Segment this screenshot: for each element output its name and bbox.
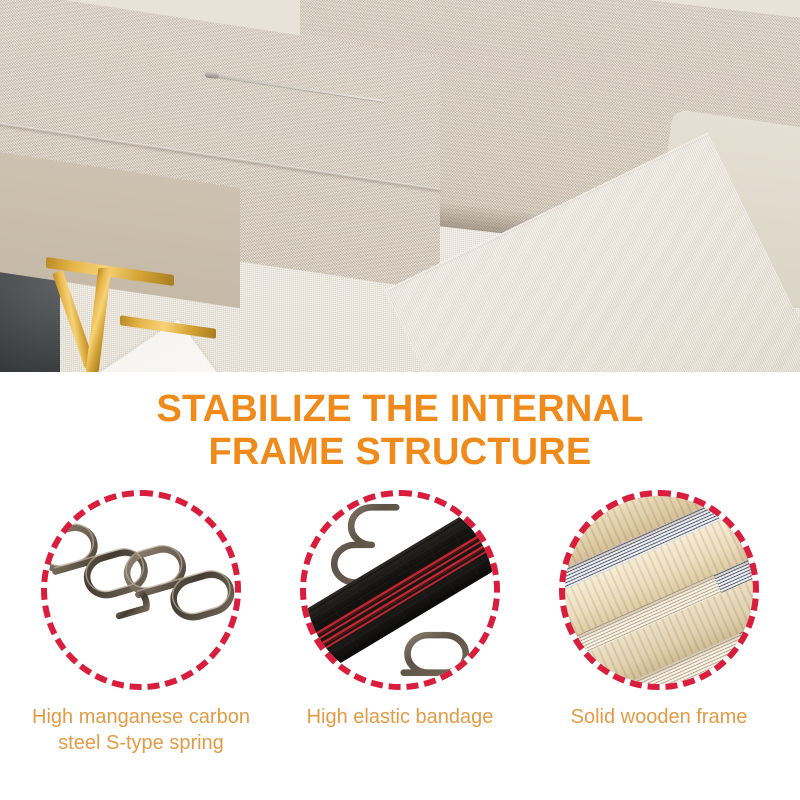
- feature-image-elastic-bandage: [300, 490, 500, 690]
- wooden-frame-artwork: [565, 496, 753, 684]
- headline-line-2: FRAME STRUCTURE: [0, 431, 800, 474]
- zipper-pull-icon: [205, 71, 219, 78]
- feature-caption-wooden-frame: Solid wooden frame: [534, 704, 784, 730]
- feature-elastic-bandage: High elastic bandage: [271, 490, 529, 756]
- pine-slat-frame-icon: [565, 496, 753, 684]
- feature-wooden-frame: Solid wooden frame: [530, 490, 788, 756]
- headline: STABILIZE THE INTERNAL FRAME STRUCTURE: [0, 372, 800, 475]
- info-panel: STABILIZE THE INTERNAL FRAME STRUCTURE: [0, 372, 800, 800]
- s-spring-artwork: [47, 496, 235, 684]
- feature-list: High manganese carbon steel S-type sprin…: [0, 490, 800, 756]
- feature-caption-elastic-bandage: High elastic bandage: [275, 704, 525, 730]
- feature-s-spring: High manganese carbon steel S-type sprin…: [12, 490, 270, 756]
- serpentine-spring-icon: [47, 496, 235, 684]
- feature-image-s-spring: [41, 490, 241, 690]
- headline-line-1: STABILIZE THE INTERNAL: [0, 388, 800, 431]
- infographic-page: STABILIZE THE INTERNAL FRAME STRUCTURE: [0, 0, 800, 800]
- elastic-webbing-icon: [306, 496, 494, 684]
- feature-caption-s-spring: High manganese carbon steel S-type sprin…: [16, 704, 266, 756]
- feature-image-wooden-frame: [559, 490, 759, 690]
- product-photo: [0, 0, 800, 372]
- elastic-bandage-artwork: [306, 496, 494, 684]
